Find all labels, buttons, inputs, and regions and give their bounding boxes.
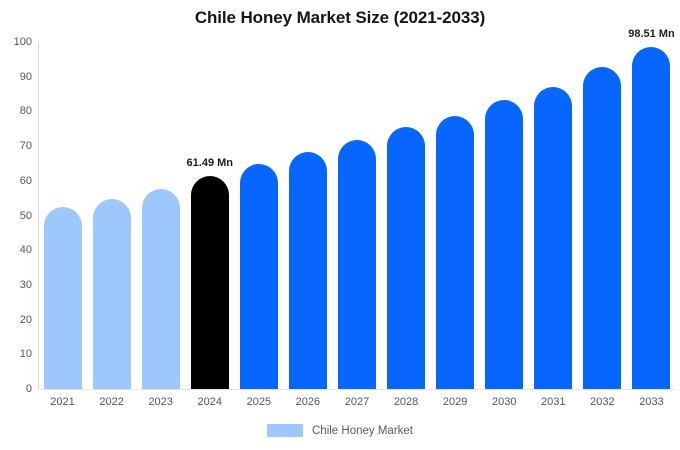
x-axis-tick-label-2024: 2024 [191,396,229,408]
x-axis-tick-label-2028: 2028 [387,396,425,408]
bar-slot [93,42,131,389]
bar-2033[interactable] [632,47,670,389]
chart-legend: Chile Honey Market [0,424,680,437]
y-axis-tick-label: 40 [2,244,32,256]
bar-2026[interactable] [289,152,327,389]
bar-2024[interactable] [191,176,229,389]
y-axis-tick-label: 90 [2,71,32,83]
y-axis-tick-label: 70 [2,140,32,152]
bar-2022[interactable] [93,199,131,389]
bar-slot [583,42,621,389]
y-axis-tick-label: 100 [2,36,32,48]
x-axis-tick-label-2022: 2022 [93,396,131,408]
x-axis-tick-label-2021: 2021 [44,396,82,408]
y-axis-tick-label: 60 [2,175,32,187]
bar-slot: 98.51 Mn [632,42,670,389]
legend-color-swatch [267,424,303,437]
x-axis-tick-label-2025: 2025 [240,396,278,408]
y-axis-tick-label: 10 [2,348,32,360]
x-axis-tick-label-2032: 2032 [583,396,621,408]
bar-slot [387,42,425,389]
chart-title: Chile Honey Market Size (2021-2033) [0,8,680,28]
bar-series-layer: 61.49 Mn98.51 Mn [38,42,676,389]
y-axis-tick-label: 0 [2,383,32,395]
bar-2029[interactable] [436,116,474,389]
bar-slot [142,42,180,389]
bar-slot: 61.49 Mn [191,42,229,389]
y-axis-tick-label: 20 [2,314,32,326]
bar-2025[interactable] [240,164,278,389]
bar-2032[interactable] [583,67,621,389]
x-axis-tick-label-2026: 2026 [289,396,327,408]
bar-2021[interactable] [44,207,82,389]
bar-2031[interactable] [534,87,572,389]
bar-slot [436,42,474,389]
y-axis-tick-label: 50 [2,210,32,222]
bar-2027[interactable] [338,140,376,389]
x-axis-tick-label-2033: 2033 [632,396,670,408]
bar-slot [240,42,278,389]
legend-item-label: Chile Honey Market [312,425,413,437]
bar-slot [485,42,523,389]
x-axis-tick-label-2030: 2030 [485,396,523,408]
y-axis-tick-label: 30 [2,279,32,291]
x-axis-tick-label-2027: 2027 [338,396,376,408]
bar-value-label-2033: 98.51 Mn [628,28,674,40]
bar-slot [44,42,82,389]
bar-slot [534,42,572,389]
chart-container: Chile Honey Market Size (2021-2033) 0102… [0,0,680,450]
x-axis-tick-label-2023: 2023 [142,396,180,408]
bar-2030[interactable] [485,100,523,389]
x-axis-tick-label-2029: 2029 [436,396,474,408]
bar-slot [338,42,376,389]
bar-slot [289,42,327,389]
bar-2023[interactable] [142,189,180,389]
bar-value-label-2024: 61.49 Mn [187,157,233,169]
legend-item-chile-honey-market[interactable]: Chile Honey Market [267,424,413,437]
x-axis-tick-label-2031: 2031 [534,396,572,408]
bar-2028[interactable] [387,127,425,389]
y-axis-tick-label: 80 [2,105,32,117]
x-axis-baseline [38,389,676,390]
